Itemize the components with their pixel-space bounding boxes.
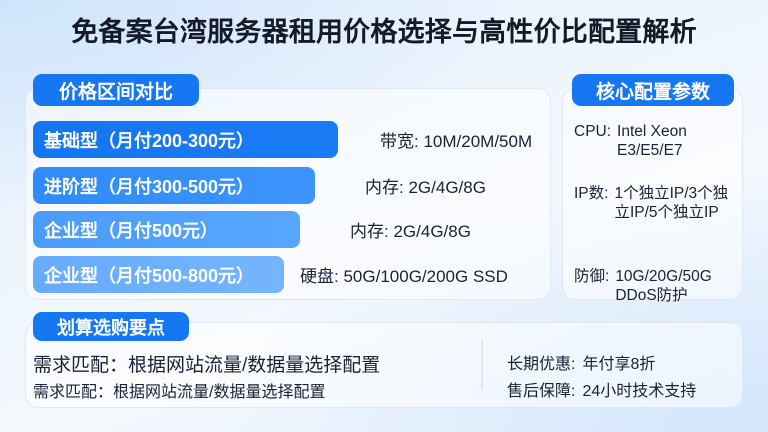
core-config-value: 1个独立IP/3个独立IP/5个独立IP: [614, 185, 736, 223]
price-tier-bar: 进阶型（月付300-500元）: [33, 167, 315, 204]
buying-tip-item: 长期优惠: 年付享8折: [507, 350, 655, 374]
core-config-item: 防御: 10G/20G/50G DDoS防护: [574, 268, 736, 306]
price-row: 进阶型（月付300-500元） 内存: 2G/4G/8G: [33, 167, 486, 204]
price-row: 基础型（月付200-300元） 带宽: 10M/20M/50M: [33, 121, 532, 158]
buying-tip-item: 售后保障: 24小时技术支持: [507, 377, 696, 401]
price-spec: 带宽: 10M/20M/50M: [380, 127, 532, 152]
core-config-item: IP数: 1个独立IP/3个独立IP/5个独立IP: [574, 185, 736, 223]
page-title: 免备案台湾服务器租用价格选择与高性价比配置解析: [0, 19, 768, 46]
price-spec-key: 内存:: [350, 222, 389, 241]
price-row: 企业型（月付500元） 内存: 2G/4G/8G: [33, 211, 471, 248]
core-config-value: Intel Xeon E3/E5/E7: [617, 123, 736, 161]
price-spec: 内存: 2G/4G/8G: [350, 217, 471, 242]
price-row: 企业型（月付500-800元） 硬盘: 50G/100G/200G SSD: [33, 256, 508, 293]
price-spec-key: 硬盘:: [300, 267, 339, 286]
buying-tip-line: 需求匹配：根据网站流量/数据量选择配置: [33, 350, 380, 377]
core-config-item: CPU: Intel Xeon E3/E5/E7: [574, 123, 736, 161]
core-config-key: 防御:: [574, 268, 609, 306]
core-config-heading: 核心配置参数: [572, 74, 734, 106]
price-spec-key: 内存:: [365, 178, 404, 197]
price-tier-bar: 企业型（月付500元）: [33, 211, 300, 248]
buying-tip-value: 年付享8折: [582, 350, 655, 374]
core-config-key: CPU:: [574, 123, 611, 161]
buying-tip-key: 售后保障:: [507, 377, 575, 401]
buying-tips-heading: 划算选购要点: [33, 312, 189, 341]
price-spec-value: 50G/100G/200G SSD: [343, 267, 507, 286]
price-spec-value: 10M/20M/50M: [423, 132, 532, 151]
price-tier-bar: 企业型（月付500-800元）: [33, 256, 284, 293]
price-spec-value: 2G/4G/8G: [393, 222, 470, 241]
price-spec: 硬盘: 50G/100G/200G SSD: [300, 262, 508, 287]
price-tier-bar: 基础型（月付200-300元）: [33, 121, 338, 158]
infographic-canvas: 免备案台湾服务器租用价格选择与高性价比配置解析 价格区间对比 基础型（月付200…: [0, 0, 768, 432]
core-config-value: 10G/20G/50G DDoS防护: [615, 268, 736, 306]
buying-tip-line: 需求匹配：根据网站流量/数据量选择配置: [33, 378, 325, 402]
tips-column-divider: [481, 340, 483, 390]
price-spec-value: 2G/4G/8G: [408, 178, 485, 197]
buying-tip-value: 24小时技术支持: [582, 377, 696, 401]
core-config-key: IP数:: [574, 185, 608, 223]
price-comparison-heading: 价格区间对比: [33, 74, 199, 106]
price-spec: 内存: 2G/4G/8G: [365, 173, 486, 198]
price-spec-key: 带宽:: [380, 132, 419, 151]
buying-tip-key: 长期优惠:: [507, 350, 575, 374]
